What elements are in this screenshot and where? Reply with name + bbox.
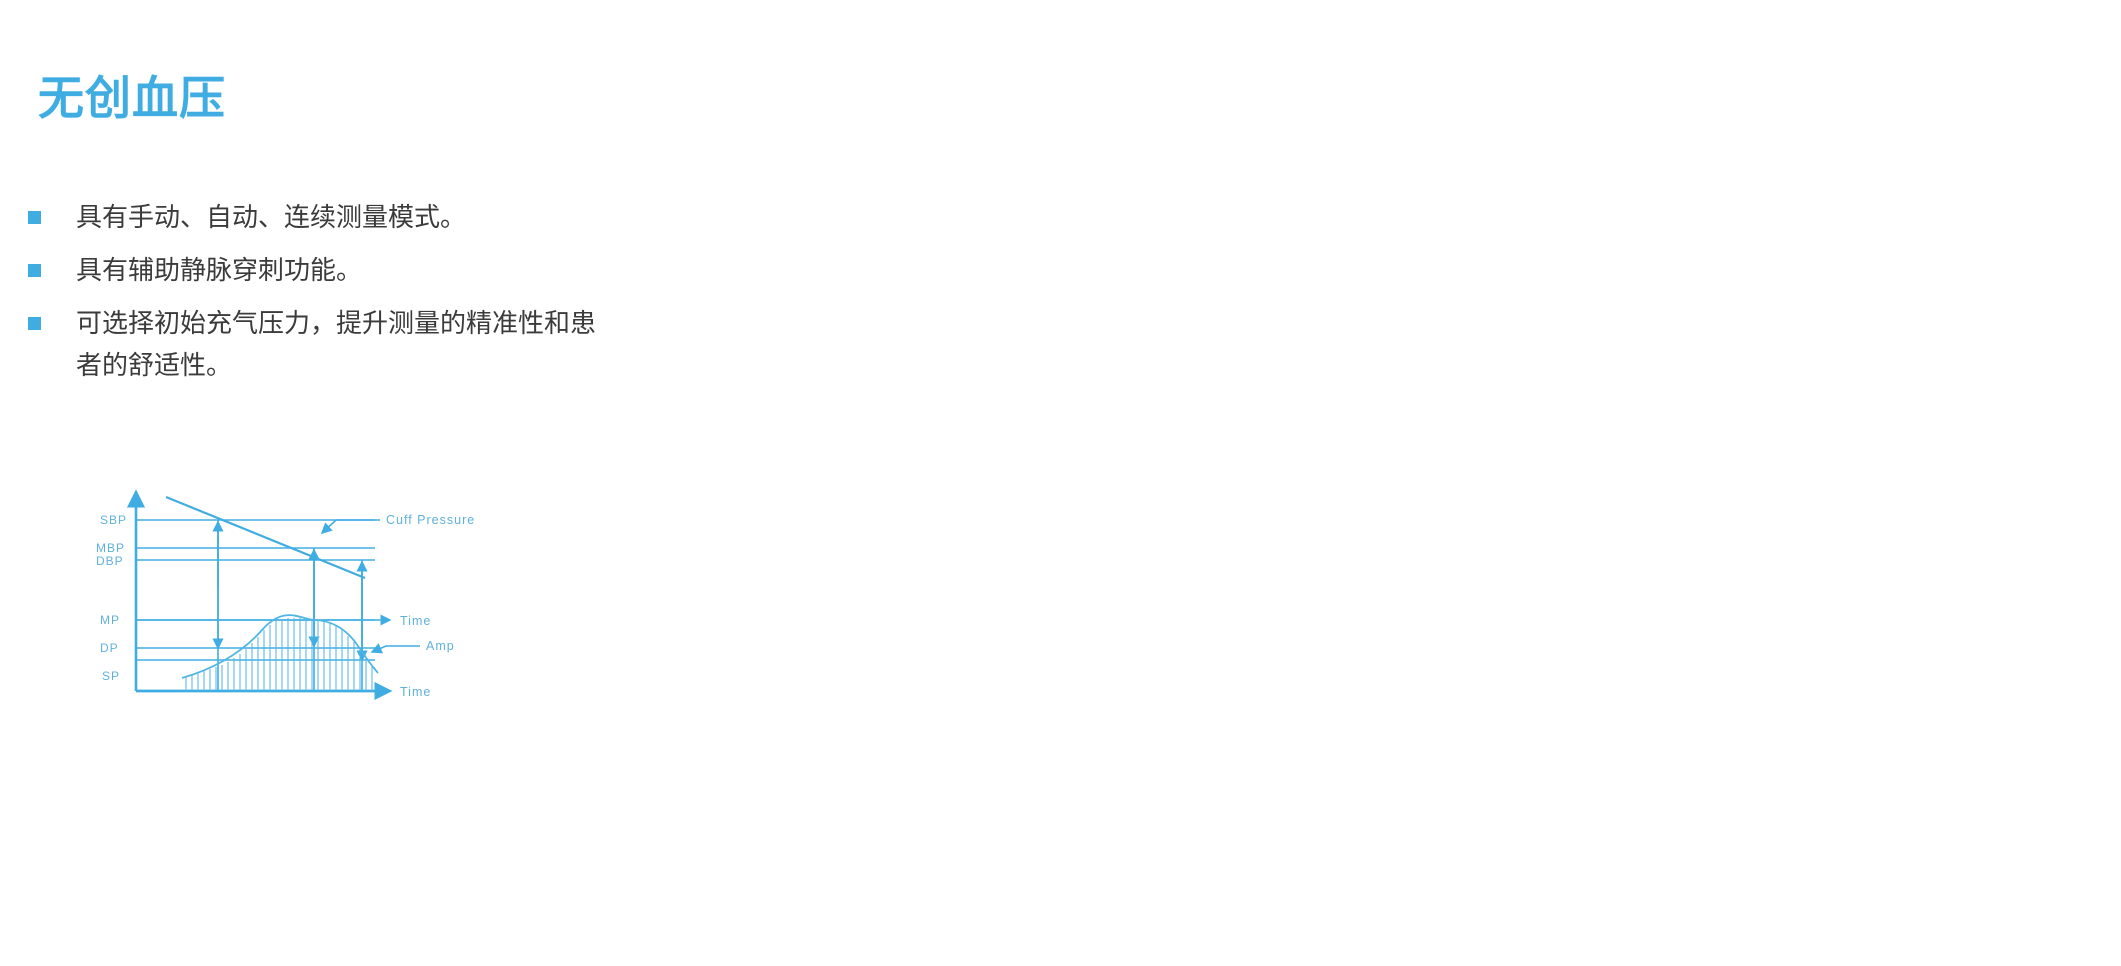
nibp-label-dbp: DBP xyxy=(96,554,124,568)
nibp-label-time-mid: Time xyxy=(400,614,431,628)
bullet-square-icon xyxy=(28,211,41,224)
list-item: 具有手动、自动、连续测量模式。 xyxy=(28,196,808,238)
nibp-label-amp: Amp xyxy=(426,639,455,653)
nibp-oscillometry-diagram: SBP MBP DBP MP DP SP Cuff Pressure Time … xyxy=(90,470,610,700)
nibp-label-cuff-pressure: Cuff Pressure xyxy=(386,513,475,527)
bullet-square-icon xyxy=(28,317,41,330)
nibp-label-mp: MP xyxy=(100,613,120,627)
list-item: 可选择初始充气压力，提升测量的精准性和患 者的舒适性。 xyxy=(28,302,808,386)
nibp-label-sbp: SBP xyxy=(100,513,127,527)
list-item-text: 具有手动、自动、连续测量模式。 xyxy=(76,196,808,238)
bullet-list-nibp: 具有手动、自动、连续测量模式。 具有辅助静脉穿刺功能。 可选择初始充气压力，提升… xyxy=(28,196,808,397)
list-item: 具有辅助静脉穿刺功能。 xyxy=(28,249,808,291)
slide-root: 无创血压 具有手动、自动、连续测量模式。 具有辅助静脉穿刺功能。 可选择初始充气… xyxy=(0,0,2121,966)
nibp-label-dp: DP xyxy=(100,641,119,655)
bullet-square-icon xyxy=(28,264,41,277)
heading-nibp: 无创血压 xyxy=(38,62,226,128)
nibp-label-time-bottom: Time xyxy=(400,685,431,699)
list-item-text: 具有辅助静脉穿刺功能。 xyxy=(76,249,808,291)
column-nibp: 无创血压 具有手动、自动、连续测量模式。 具有辅助静脉穿刺功能。 可选择初始充气… xyxy=(0,0,1060,966)
nibp-label-mbp: MBP xyxy=(96,541,125,555)
column-etco2: 呼吸末二氧化碳 与Respironics/Masimo公司合作，使用即插即用的呼… xyxy=(1060,0,2121,966)
nibp-label-sp: SP xyxy=(102,669,120,683)
list-item-text: 可选择初始充气压力，提升测量的精准性和患 者的舒适性。 xyxy=(76,302,808,386)
